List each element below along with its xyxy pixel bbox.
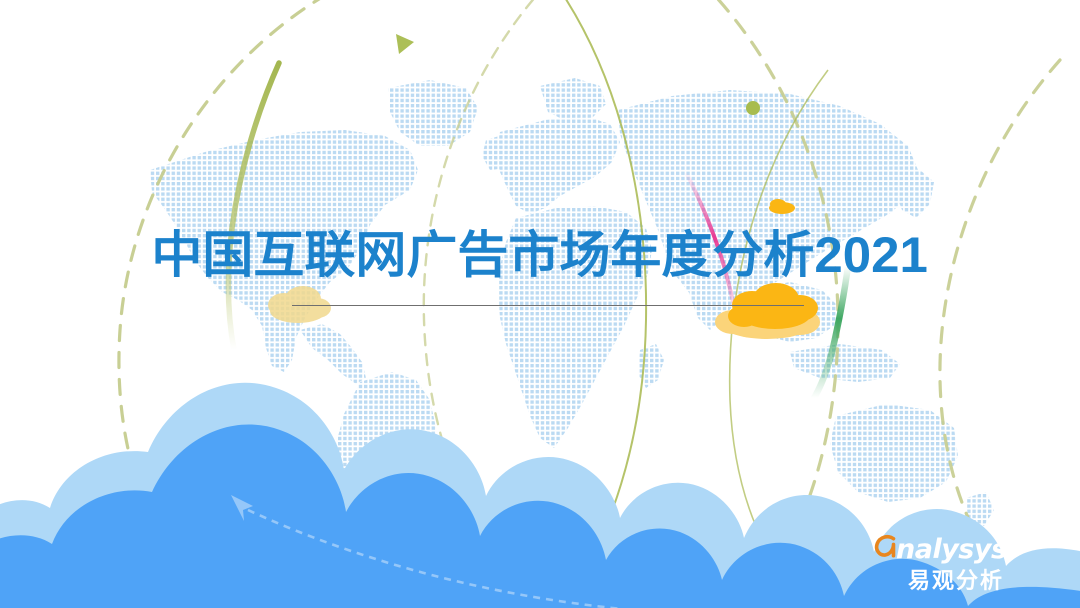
olive-dot-marker bbox=[746, 101, 760, 115]
logo-wordmark-text: nalysys bbox=[896, 536, 1007, 564]
page-title: 中国互联网广告市场年度分析2021 bbox=[152, 225, 928, 285]
title-underline-rule bbox=[292, 305, 804, 306]
dotted-world-map bbox=[0, 0, 1080, 608]
olive-arrowhead-icon bbox=[396, 34, 414, 54]
world-map-continents bbox=[0, 0, 1080, 608]
logo-wordmark: nalysys bbox=[852, 536, 1042, 566]
analysys-logo: nalysys 易观分析 bbox=[852, 536, 1042, 594]
presentation-title-slide: 中国互联网广告市场年度分析2021 nalysys 易观分析 bbox=[0, 0, 1080, 608]
logo-chinese-text: 易观分析 bbox=[852, 568, 1042, 594]
slide-title-block: 中国互联网广告市场年度分析2021 bbox=[0, 225, 1080, 285]
